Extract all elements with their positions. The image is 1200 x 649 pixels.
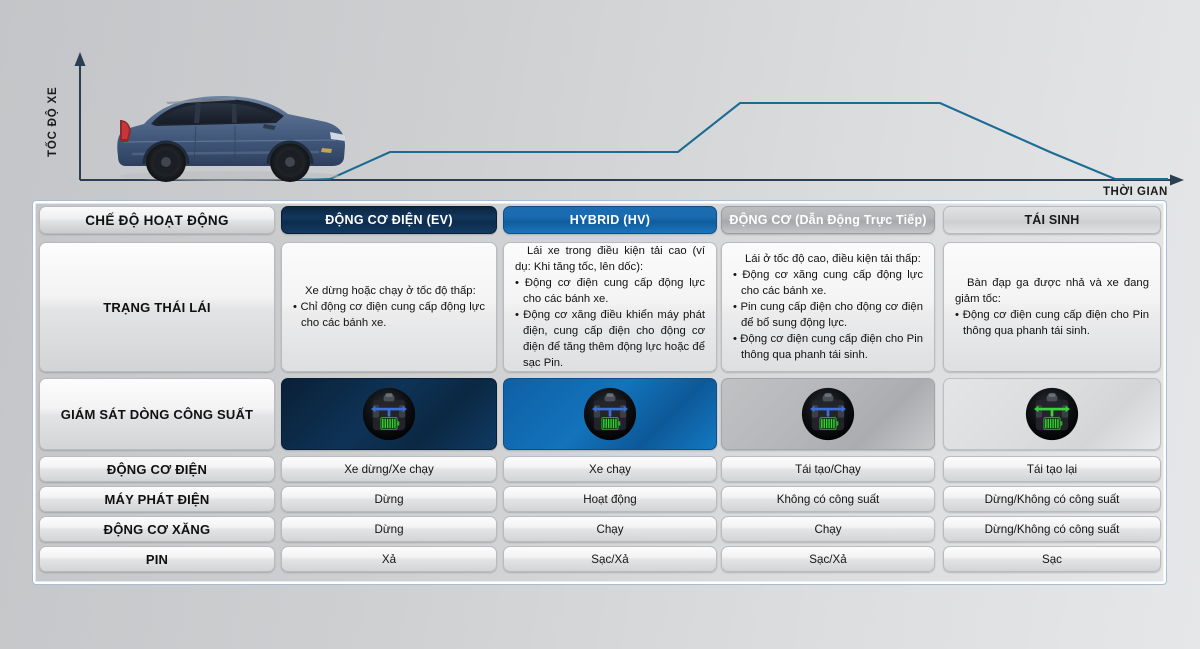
- value-cell-electric_motor-2: Tái tạo/Chạy: [721, 456, 935, 482]
- power-flow-hybrid-icon: [583, 387, 637, 441]
- operation-mode-table: CHẾ ĐỘ HOẠT ĐỘNGTRẠNG THÁI LÁIGIÁM SÁT D…: [39, 206, 1161, 578]
- row-header-label: ĐỘNG CƠ XĂNG: [104, 522, 211, 537]
- value-cell-gasoline_engine-3: Dừng/Không có công suất: [943, 516, 1161, 542]
- value-cell-generator-0: Dừng: [281, 486, 497, 512]
- value-cell-electric_motor-3: Tái tạo lại: [943, 456, 1161, 482]
- value-cell-gasoline_engine-1: Chạy: [503, 516, 717, 542]
- driving-state-bullet: • Động cơ điện cung cấp động lực cho các…: [515, 275, 705, 307]
- value-text: Dừng/Không có công suất: [985, 493, 1120, 506]
- value-cell-battery-1: Sạc/Xả: [503, 546, 717, 572]
- value-text: Xả: [382, 553, 396, 566]
- driving-state-bullet: • Pin cung cấp điện cho động cơ điện để …: [733, 299, 923, 331]
- value-cell-generator-2: Không có công suất: [721, 486, 935, 512]
- value-text: Dừng/Không có công suất: [985, 523, 1120, 536]
- row-header-0: CHẾ ĐỘ HOẠT ĐỘNG: [39, 206, 275, 234]
- column-header-3[interactable]: TÁI SINH: [943, 206, 1161, 234]
- value-cell-battery-2: Sạc/Xả: [721, 546, 935, 572]
- value-text: Hoạt động: [583, 493, 637, 506]
- driving-state-text: Lái xe trong điều kiện tải cao (ví dụ: K…: [515, 243, 705, 371]
- row-header-label: MÁY PHÁT ĐIỆN: [105, 492, 210, 507]
- column-header-label: TÁI SINH: [1024, 213, 1079, 227]
- driving-state-bullet: • Động cơ xăng cung cấp động lực cho các…: [733, 267, 923, 299]
- power-flow-cell-3[interactable]: [943, 378, 1161, 450]
- value-text: Xe chạy: [589, 463, 631, 476]
- driving-state-cell-0: Xe dừng hoặc chạy ở tốc độ thấp:• Chỉ độ…: [281, 242, 497, 372]
- row-header-label: TRẠNG THÁI LÁI: [103, 300, 211, 315]
- row-header-4: MÁY PHÁT ĐIỆN: [39, 486, 275, 512]
- value-cell-electric_motor-0: Xe dừng/Xe chạy: [281, 456, 497, 482]
- value-cell-generator-3: Dừng/Không có công suất: [943, 486, 1161, 512]
- value-text: Dừng: [374, 523, 403, 536]
- row-header-5: ĐỘNG CƠ XĂNG: [39, 516, 275, 542]
- column-header-label: ĐỘNG CƠ ĐIỆN (EV): [325, 213, 453, 227]
- driving-state-text: Lái ở tốc độ cao, điều kiện tải thấp:• Đ…: [733, 251, 923, 363]
- column-header-2[interactable]: ĐỘNG CƠ (Dẫn Động Trực Tiếp): [721, 206, 935, 234]
- vehicle-illustration: [104, 78, 354, 183]
- value-cell-electric_motor-1: Xe chạy: [503, 456, 717, 482]
- speed-time-chart: TỐC ĐỘ XE THỜI GIAN: [0, 0, 1200, 205]
- driving-state-cell-3: Bàn đạp ga được nhả và xe đang giảm tốc:…: [943, 242, 1161, 372]
- y-axis-label: TỐC ĐỘ XE: [47, 66, 69, 178]
- value-text: Tái tạo lại: [1027, 463, 1077, 476]
- value-text: Xe dừng/Xe chạy: [344, 463, 434, 476]
- driving-state-lead: Xe dừng hoặc chạy ở tốc độ thấp:: [293, 283, 485, 299]
- row-header-label: PIN: [146, 552, 168, 567]
- value-text: Sạc/Xả: [591, 553, 628, 566]
- row-header-2: GIÁM SÁT DÒNG CÔNG SUẤT: [39, 378, 275, 450]
- column-header-1[interactable]: HYBRID (HV): [503, 206, 717, 234]
- value-text: Dừng: [374, 493, 403, 506]
- row-header-label: CHẾ ĐỘ HOẠT ĐỘNG: [85, 213, 229, 228]
- value-text: Sạc: [1042, 553, 1062, 566]
- row-header-1: TRẠNG THÁI LÁI: [39, 242, 275, 372]
- x-axis-label: THỜI GIAN: [1103, 186, 1168, 198]
- power-flow-engine-icon: [801, 387, 855, 441]
- value-text: Không có công suất: [777, 493, 880, 506]
- power-flow-cell-1[interactable]: [503, 378, 717, 450]
- column-header-label: HYBRID (HV): [570, 213, 650, 227]
- row-header-label: GIÁM SÁT DÒNG CÔNG SUẤT: [61, 407, 253, 422]
- driving-state-text: Bàn đạp ga được nhả và xe đang giảm tốc:…: [955, 275, 1149, 339]
- value-cell-generator-1: Hoạt động: [503, 486, 717, 512]
- row-header-label: ĐỘNG CƠ ĐIỆN: [107, 462, 207, 477]
- driving-state-lead: Lái ở tốc độ cao, điều kiện tải thấp:: [733, 251, 923, 267]
- driving-state-bullet: • Động cơ điện cung cấp điện cho Pin thô…: [955, 307, 1149, 339]
- column-header-label: ĐỘNG CƠ (Dẫn Động Trực Tiếp): [729, 213, 926, 227]
- speed-curve: [280, 103, 1168, 179]
- column-header-0[interactable]: ĐỘNG CƠ ĐIỆN (EV): [281, 206, 497, 234]
- driving-state-lead: Bàn đạp ga được nhả và xe đang giảm tốc:: [955, 275, 1149, 307]
- value-cell-gasoline_engine-0: Dừng: [281, 516, 497, 542]
- power-flow-regen-icon: [1025, 387, 1079, 441]
- driving-state-text: Xe dừng hoặc chạy ở tốc độ thấp:• Chỉ độ…: [293, 283, 485, 331]
- row-header-3: ĐỘNG CƠ ĐIỆN: [39, 456, 275, 482]
- value-text: Chạy: [596, 523, 623, 536]
- power-flow-ev-icon: [362, 387, 416, 441]
- driving-state-bullet: • Chỉ động cơ điện cung cấp động lực cho…: [293, 299, 485, 331]
- value-text: Chạy: [814, 523, 841, 536]
- value-cell-battery-0: Xả: [281, 546, 497, 572]
- value-text: Tái tạo/Chạy: [795, 463, 861, 476]
- value-cell-gasoline_engine-2: Chạy: [721, 516, 935, 542]
- driving-state-bullet: • Động cơ xăng điều khiển máy phát điện,…: [515, 307, 705, 371]
- row-header-6: PIN: [39, 546, 275, 572]
- value-cell-battery-3: Sạc: [943, 546, 1161, 572]
- value-text: Sạc/Xả: [809, 553, 846, 566]
- driving-state-cell-1: Lái xe trong điều kiện tải cao (ví dụ: K…: [503, 242, 717, 372]
- driving-state-lead: Lái xe trong điều kiện tải cao (ví dụ: K…: [515, 243, 705, 275]
- driving-state-cell-2: Lái ở tốc độ cao, điều kiện tải thấp:• Đ…: [721, 242, 935, 372]
- power-flow-cell-2[interactable]: [721, 378, 935, 450]
- driving-state-bullet: • Động cơ điện cung cấp điện cho Pin thô…: [733, 331, 923, 363]
- power-flow-cell-0[interactable]: [281, 378, 497, 450]
